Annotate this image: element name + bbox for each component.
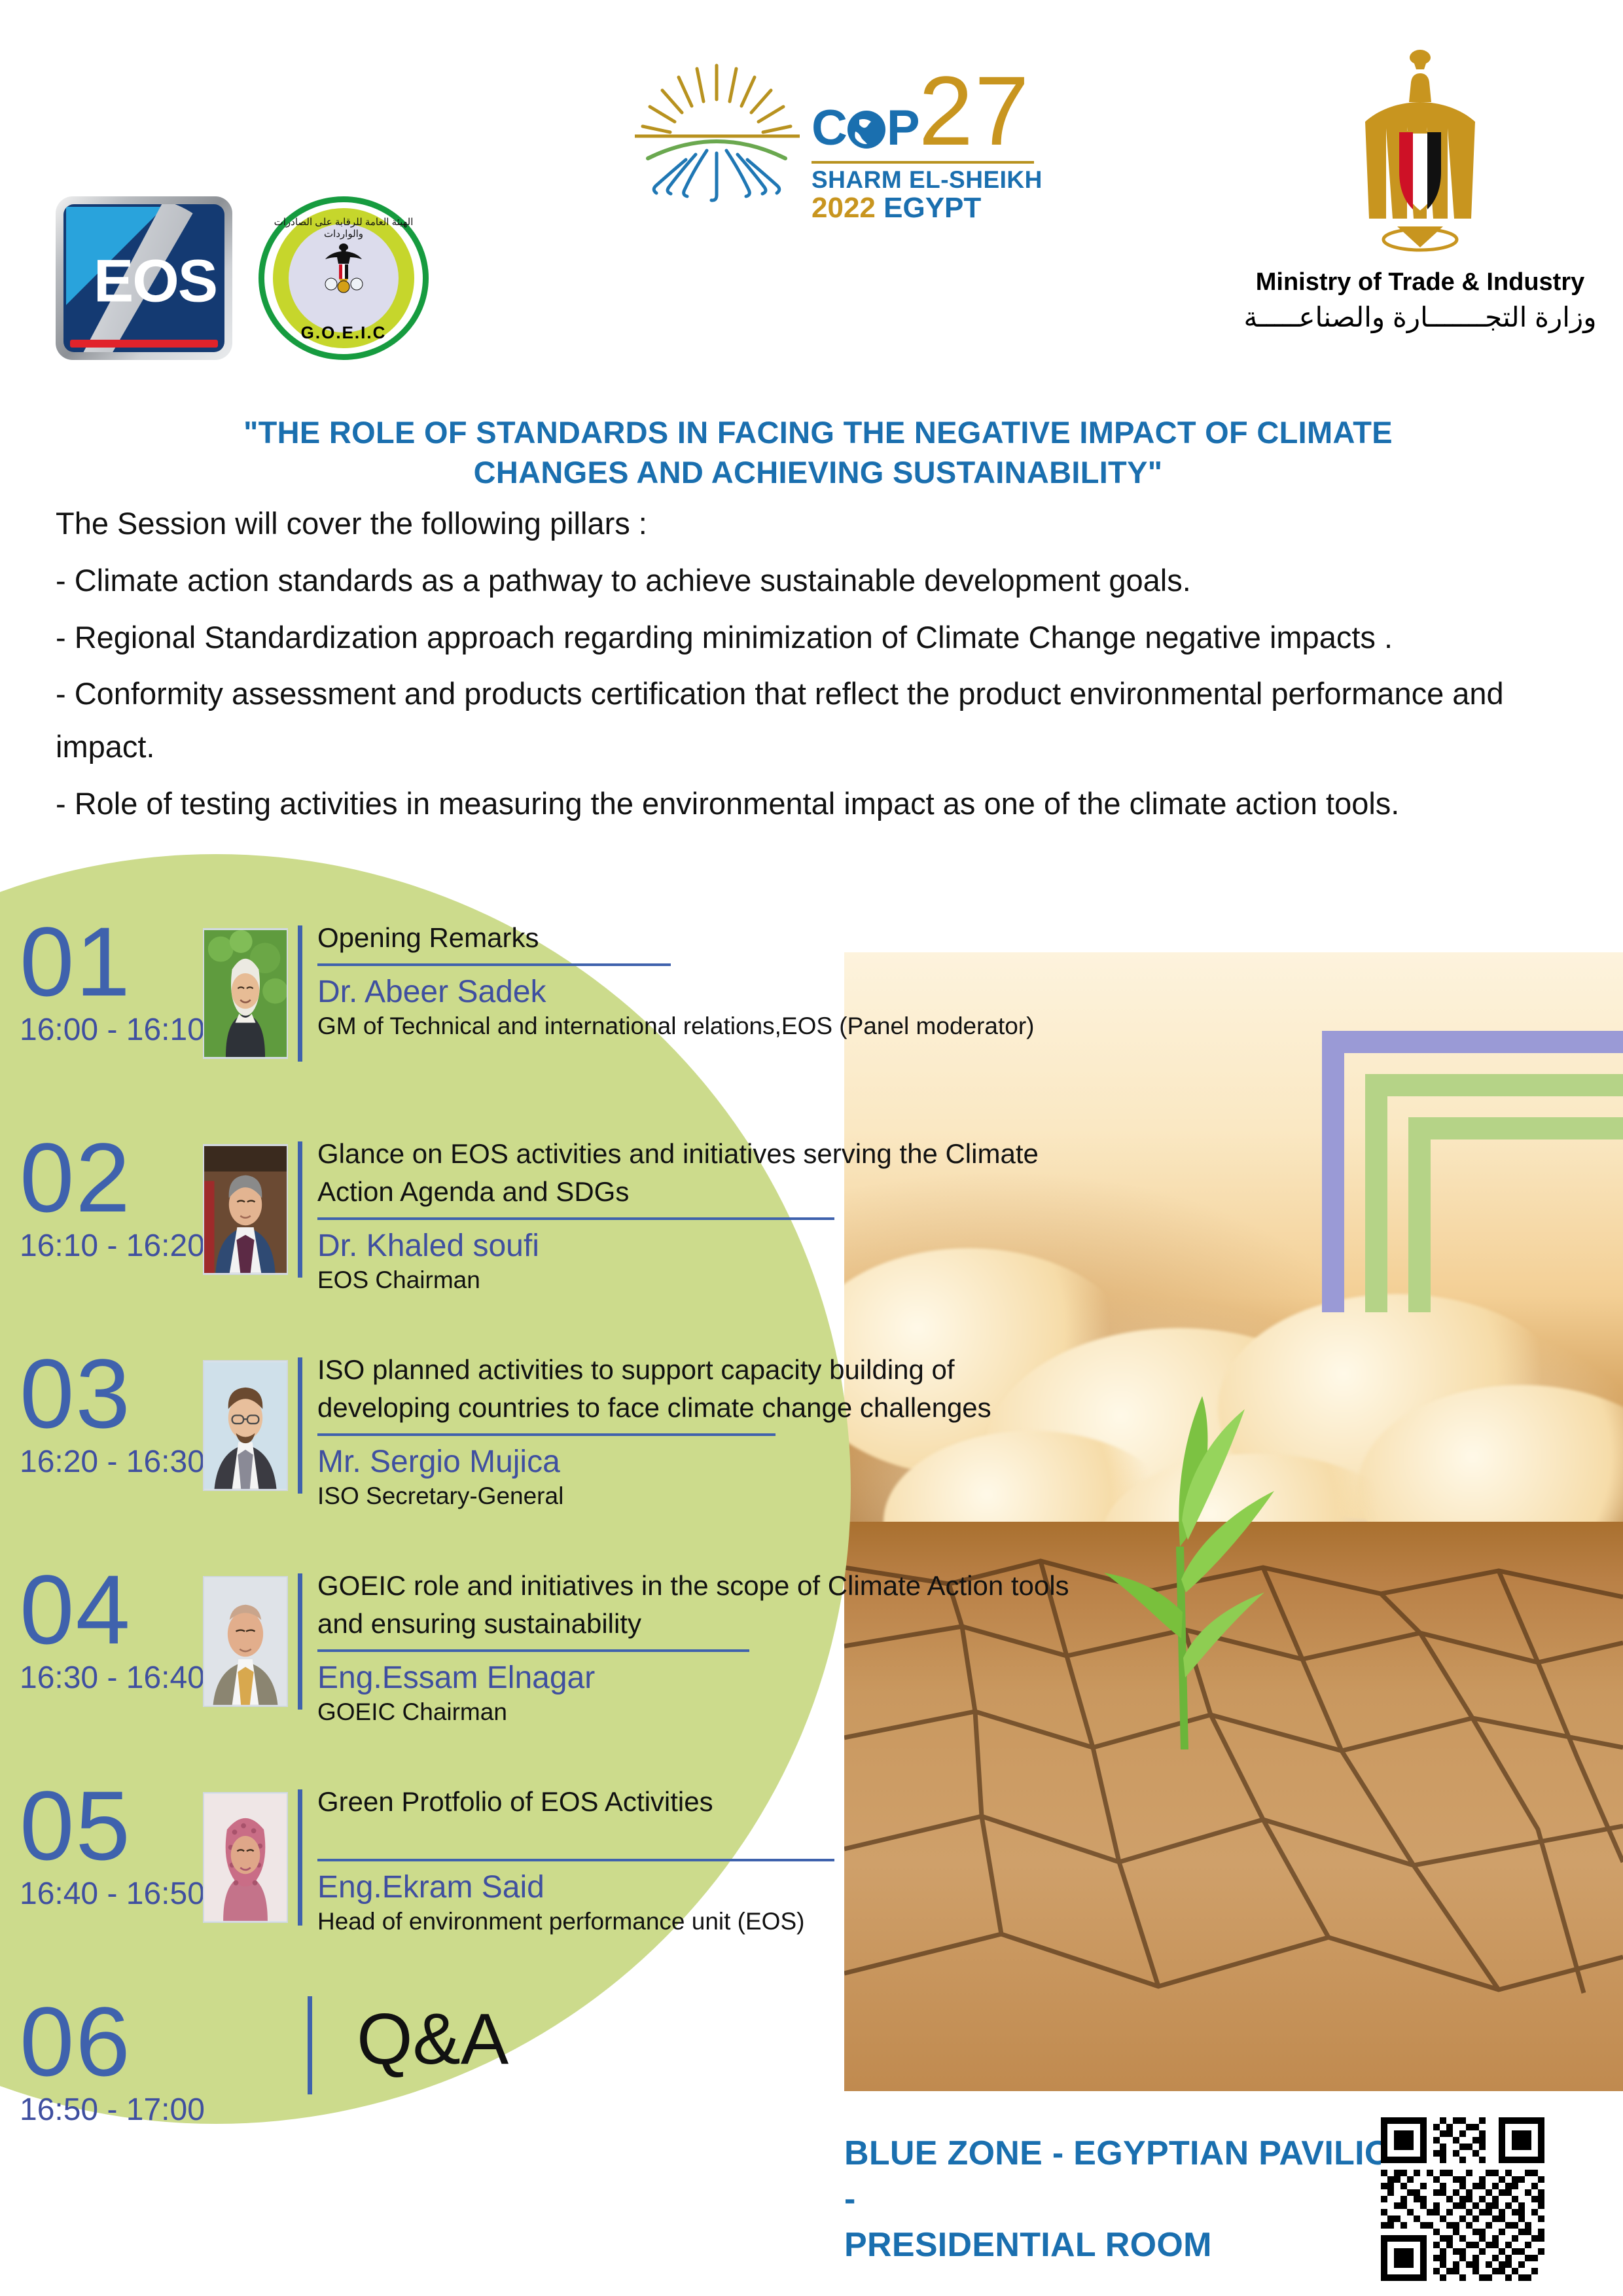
pillar-item: - Climate action standards as a pathway … <box>56 554 1587 607</box>
speaker-photo <box>203 1144 288 1275</box>
session-headline: "THE ROLE OF STANDARDS IN FACING THE NEG… <box>196 412 1440 492</box>
agenda-row: 05 16:40 - 16:50 Green Protfolio of EOS … <box>0 1767 1113 1983</box>
goeic-logo-text: G.O.E.I.C <box>259 323 429 343</box>
agenda-number-block: 03 16:20 - 16:30 <box>20 1348 190 1480</box>
agenda-time: 16:00 - 16:10 <box>20 1012 190 1048</box>
agenda-row: 04 16:30 - 16:40 GOEIC role and initiati… <box>0 1551 1113 1767</box>
agenda-content: GOEIC role and initiatives in the scope … <box>317 1567 1070 1727</box>
agenda-number-block: 02 16:10 - 16:20 <box>20 1132 190 1264</box>
eos-logo-red-bar <box>70 340 218 348</box>
eos-logo-shield: EOS <box>63 204 224 352</box>
corner-bracket-green-inner <box>1408 1117 1623 1312</box>
agenda-divider <box>317 1217 834 1220</box>
speaker-photo <box>203 1576 288 1707</box>
agenda-number: 05 <box>20 1780 190 1871</box>
agenda-time: 16:20 - 16:30 <box>20 1444 190 1480</box>
agenda-accent-bar <box>298 1573 302 1710</box>
agenda-accent-bar <box>298 1141 302 1278</box>
agenda-speaker: Mr. Sergio Mujica <box>317 1444 1070 1480</box>
agenda-number-block: 05 16:40 - 16:50 <box>20 1780 190 1912</box>
agenda-list: 01 16:00 - 16:10 Opening Remarks Dr. Abe… <box>0 903 1113 2179</box>
cop27-location: SHARM EL-SHEIKH <box>811 168 1043 193</box>
goeic-logo: الهيئة العامة للرقابة على الصادرات والوا… <box>259 196 429 360</box>
agenda-topic: ISO planned activities to support capaci… <box>317 1351 1070 1427</box>
cop27-logo: C P27 SHARM EL-SHEIKH 2022 EGYPT <box>628 59 1034 209</box>
speaker-photo <box>203 928 288 1059</box>
agenda-role: GM of Technical and international relati… <box>317 1011 1070 1041</box>
speaker-photo <box>203 1792 288 1923</box>
agenda-role: GOEIC Chairman <box>317 1697 1070 1727</box>
agenda-row: 03 16:20 - 16:30 ISO planned activities … <box>0 1335 1113 1551</box>
agenda-content: Opening Remarks Dr. Abeer Sadek GM of Te… <box>317 919 1070 1041</box>
agenda-speaker: Eng.Ekram Said <box>317 1869 1070 1905</box>
agenda-row: 02 16:10 - 16:20 Glance on EOS activitie… <box>0 1119 1113 1335</box>
pillars-intro: The Session will cover the following pil… <box>56 497 1587 550</box>
poster-header: EOS الهيئة العامة للرقابة على الصادرات و… <box>0 0 1623 393</box>
cop27-sunburst-icon <box>628 59 805 203</box>
ministry-logo-block: Ministry of Trade & Industry وزارة التجـ… <box>1237 39 1603 347</box>
agenda-accent-bar <box>298 925 302 1062</box>
agenda-number: 06 <box>20 1996 190 2087</box>
agenda-content: Glance on EOS activities and initiatives… <box>317 1135 1070 1295</box>
cop27-country: EGYPT <box>883 192 981 224</box>
agenda-speaker: Dr. Abeer Sadek <box>317 974 1070 1010</box>
agenda-number: 01 <box>20 916 190 1007</box>
agenda-divider <box>317 1859 834 1861</box>
pillar-item: - Regional Standardization approach rega… <box>56 611 1587 664</box>
agenda-time: 16:40 - 16:50 <box>20 1876 190 1912</box>
ministry-name-ar: وزارة التجـــــــارة والصناعـــــة <box>1237 301 1603 333</box>
eos-logo-frame: EOS <box>56 196 232 360</box>
agenda-topic: GOEIC role and initiatives in the scope … <box>317 1567 1070 1643</box>
venue-label: BLUE ZONE - EGYPTIAN PAVILION - PRESIDEN… <box>844 2130 1433 2269</box>
eagle-of-saladin-icon <box>1351 39 1489 255</box>
agenda-number: 04 <box>20 1564 190 1655</box>
agenda-accent-bar <box>298 1357 302 1494</box>
goeic-eagle-icon <box>319 241 368 296</box>
goeic-arabic-label: الهيئة العامة للرقابة على الصادرات والوا… <box>259 216 429 240</box>
cop27-year: 2022 <box>811 192 876 224</box>
agenda-accent-bar <box>308 1996 312 2094</box>
agenda-number: 03 <box>20 1348 190 1439</box>
agenda-number: 02 <box>20 1132 190 1223</box>
session-pillars: The Session will cover the following pil… <box>56 497 1587 834</box>
agenda-divider <box>317 1649 749 1652</box>
eos-logo: EOS <box>56 196 232 360</box>
agenda-time: 16:10 - 16:20 <box>20 1228 190 1264</box>
agenda-accent-bar <box>298 1789 302 1926</box>
agenda-topic: Glance on EOS activities and initiatives… <box>317 1135 1070 1211</box>
agenda-role: Head of environment performance unit (EO… <box>317 1907 1070 1937</box>
eos-logo-text: EOS <box>63 247 224 315</box>
agenda-topic: Q&A <box>357 1998 508 2081</box>
agenda-speaker: Dr. Khaled soufi <box>317 1228 1070 1264</box>
agenda-divider <box>317 963 671 966</box>
agenda-topic: Green Protfolio of EOS Activities <box>317 1783 1070 1821</box>
cop27-number: 27 <box>919 56 1031 166</box>
speaker-photo <box>203 1360 288 1491</box>
agenda-role: ISO Secretary-General <box>317 1481 1070 1511</box>
pillar-item: - Conformity assessment and products cer… <box>56 668 1587 774</box>
cop27-year-country: 2022 EGYPT <box>811 193 1043 223</box>
agenda-topic: Opening Remarks <box>317 919 1070 957</box>
agenda-time: 16:30 - 16:40 <box>20 1660 190 1696</box>
cop27-title: C P27 <box>811 65 1043 156</box>
venue-line-1: BLUE ZONE - EGYPTIAN PAVILION - <box>844 2130 1433 2222</box>
globe-icon <box>846 109 887 150</box>
agenda-speaker: Eng.Essam Elnagar <box>317 1660 1070 1696</box>
agenda-content: Green Protfolio of EOS Activities Eng.Ek… <box>317 1783 1070 1937</box>
agenda-time: 16:50 - 17:00 <box>20 2092 190 2128</box>
venue-line-2: PRESIDENTIAL ROOM <box>844 2222 1433 2268</box>
qr-code[interactable] <box>1381 2117 1544 2281</box>
cop27-wordmark: C P27 SHARM EL-SHEIKH 2022 EGYPT <box>811 65 1043 223</box>
agenda-content: ISO planned activities to support capaci… <box>317 1351 1070 1511</box>
ministry-name-en: Ministry of Trade & Industry <box>1237 268 1603 296</box>
agenda-number-block: 06 16:50 - 17:00 <box>20 1996 190 2128</box>
agenda-row: 01 16:00 - 16:10 Opening Remarks Dr. Abe… <box>0 903 1113 1119</box>
pillar-item: - Role of testing activities in measurin… <box>56 778 1587 831</box>
agenda-divider <box>317 1433 776 1436</box>
agenda-role: EOS Chairman <box>317 1265 1070 1295</box>
agenda-number-block: 01 16:00 - 16:10 <box>20 916 190 1048</box>
agenda-number-block: 04 16:30 - 16:40 <box>20 1564 190 1696</box>
